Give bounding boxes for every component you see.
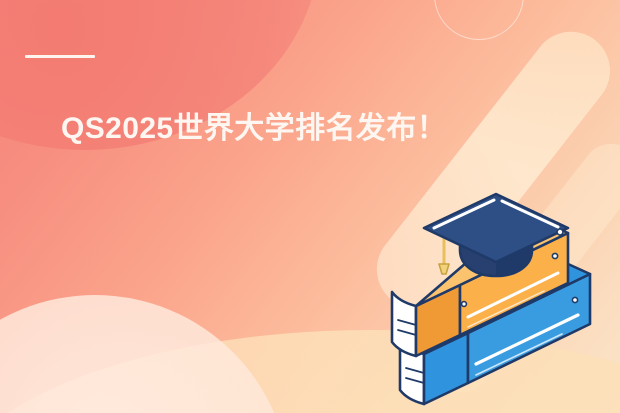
page-title: QS2025世界大学排名发布！ (61, 103, 447, 147)
circle-outline-decoration (434, 0, 524, 40)
orange-book-dot-right (552, 253, 557, 258)
pale-circle-decoration (0, 295, 290, 413)
tassel-fringe (439, 264, 449, 274)
cap-button-dot (557, 229, 563, 235)
blue-book-dot (572, 297, 577, 302)
graduation-cap-on-books-illustration (372, 192, 620, 413)
accent-rule (25, 55, 95, 58)
promo-banner: QS2025世界大学排名发布！ (0, 0, 620, 413)
orange-book-dot-left (462, 302, 467, 307)
